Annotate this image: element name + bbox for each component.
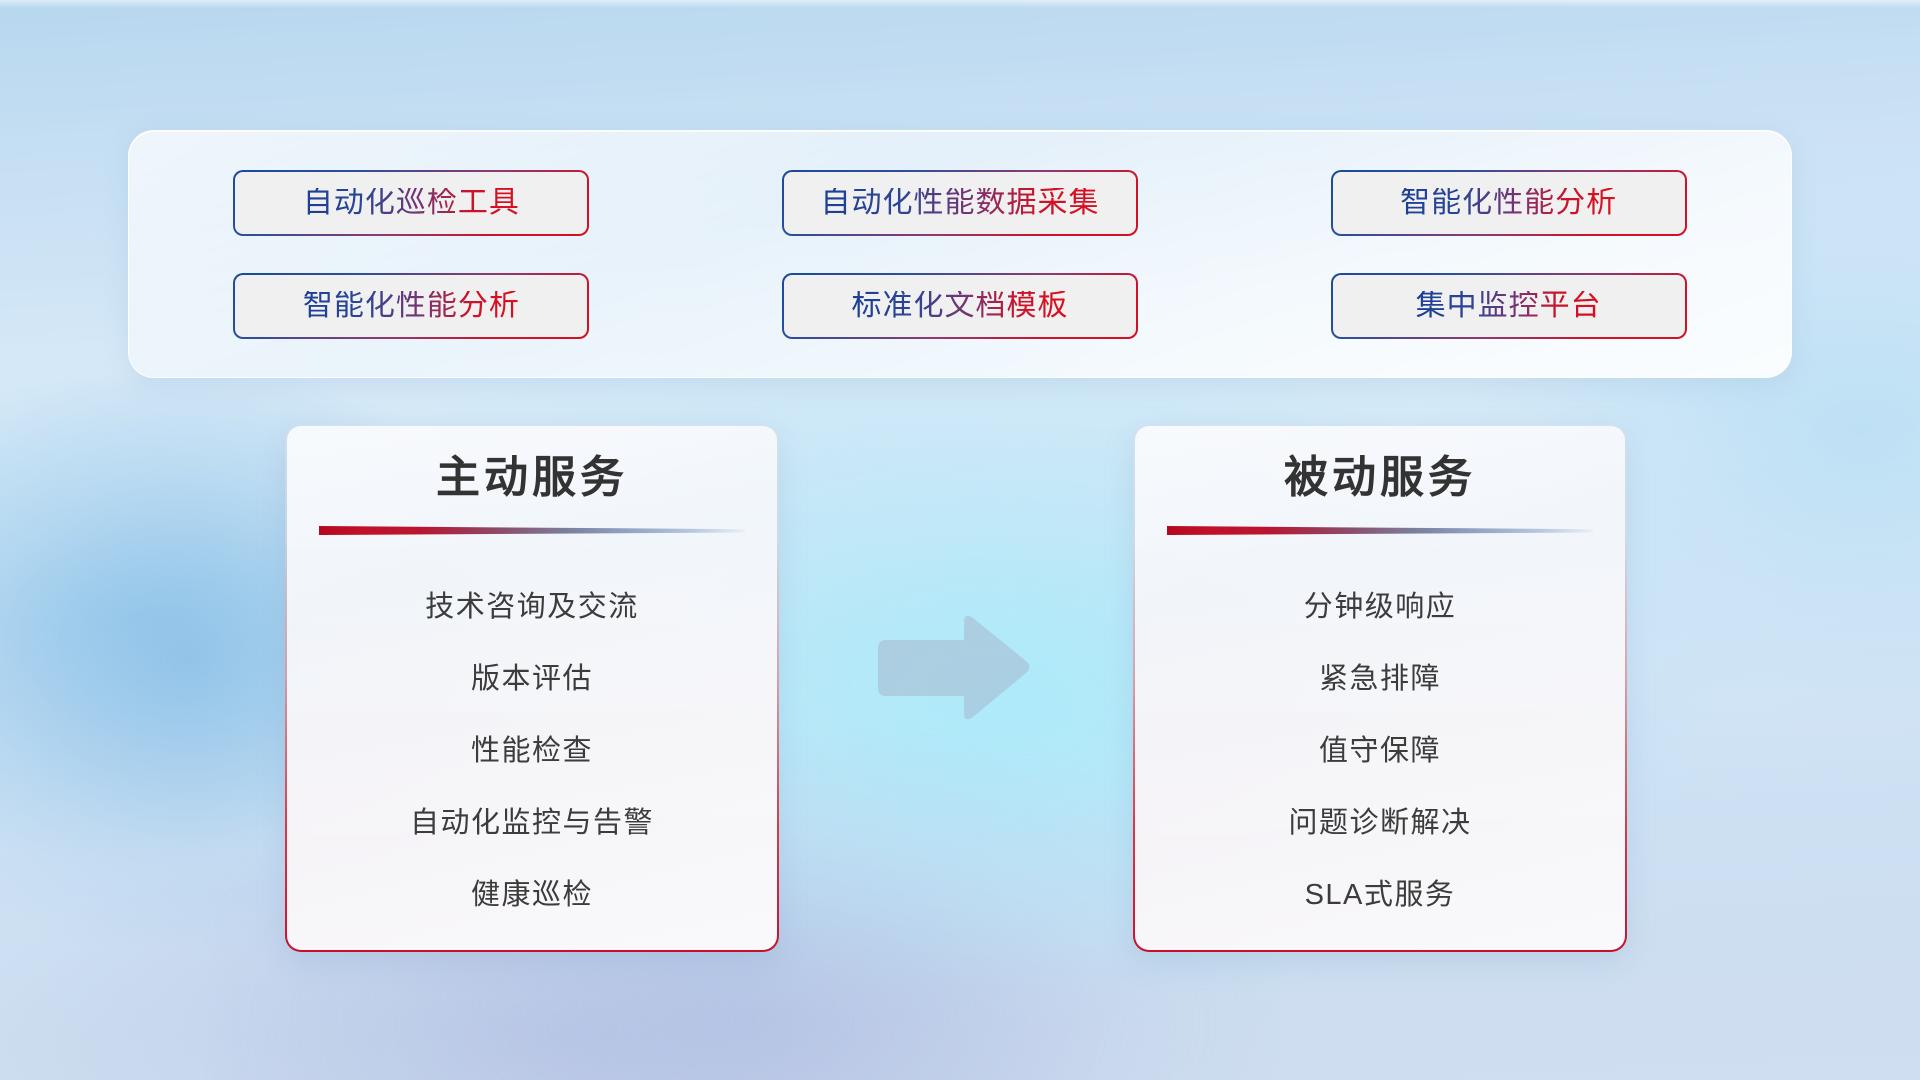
capability-pill-6[interactable]: 集中监控平台 (1331, 273, 1687, 339)
capability-pill-label: 集中监控平台 (1416, 291, 1602, 321)
capability-pill-2[interactable]: 自动化性能数据采集 (782, 170, 1138, 236)
list-item: 分钟级响应 (1304, 571, 1457, 643)
background-top-highlight (0, 0, 1920, 8)
list-item: SLA式服务 (1305, 859, 1456, 931)
service-card-active: 主动服务 技术咨询及交流 版本评估 性能检查 自动化监控与告警 健康巡检 (285, 424, 779, 952)
list-item: 值守保障 (1319, 715, 1441, 787)
list-item: 性能检查 (471, 715, 593, 787)
card-title: 主动服务 (436, 456, 628, 500)
list-item: 问题诊断解决 (1288, 787, 1471, 859)
arrow-right-icon (878, 616, 1030, 720)
card-divider (1167, 526, 1593, 535)
card-divider (319, 526, 745, 535)
list-item: 健康巡检 (471, 859, 593, 931)
flow-arrow-right (872, 612, 1032, 724)
service-card-passive: 被动服务 分钟级响应 紧急排障 值守保障 问题诊断解决 SLA式服务 (1133, 424, 1627, 952)
list-item: 自动化监控与告警 (410, 787, 654, 859)
capability-panel: 自动化巡检工具 自动化性能数据采集 智能化性能分析 智能化性能分析 标准化文档模… (128, 130, 1792, 378)
capability-pill-label: 标准化文档模板 (851, 291, 1068, 321)
capability-pill-4[interactable]: 智能化性能分析 (233, 273, 589, 339)
card-title: 被动服务 (1284, 456, 1476, 500)
capability-pill-5[interactable]: 标准化文档模板 (782, 273, 1138, 339)
capability-pill-label: 自动化性能数据采集 (820, 188, 1099, 218)
capability-pill-1[interactable]: 自动化巡检工具 (233, 170, 589, 236)
list-item: 版本评估 (471, 643, 593, 715)
list-item: 技术咨询及交流 (425, 571, 639, 643)
card-item-list: 技术咨询及交流 版本评估 性能检查 自动化监控与告警 健康巡检 (287, 571, 777, 931)
card-item-list: 分钟级响应 紧急排障 值守保障 问题诊断解决 SLA式服务 (1135, 571, 1625, 931)
capability-pill-label: 自动化巡检工具 (303, 188, 520, 218)
list-item: 紧急排障 (1319, 643, 1441, 715)
capability-pill-label: 智能化性能分析 (303, 291, 520, 321)
capability-pill-label: 智能化性能分析 (1400, 188, 1617, 218)
capability-pill-3[interactable]: 智能化性能分析 (1331, 170, 1687, 236)
